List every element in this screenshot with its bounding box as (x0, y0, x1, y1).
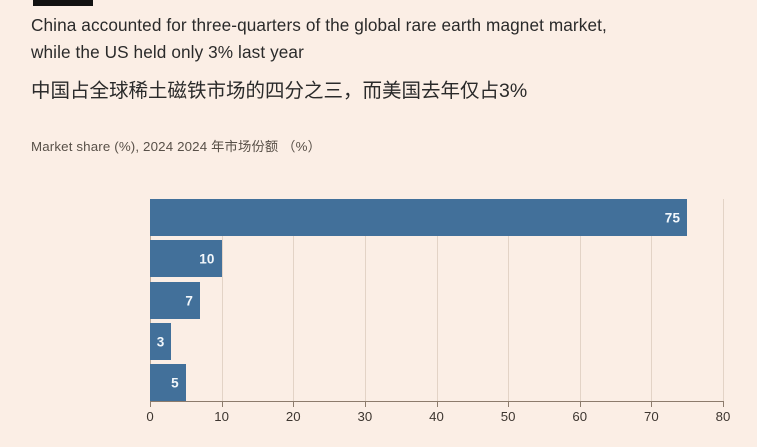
x-tick-10 (222, 402, 223, 407)
bar-japan[interactable]: 10 (150, 240, 222, 277)
x-tick-70 (651, 402, 652, 407)
x-tick-label-10: 10 (214, 409, 229, 424)
x-tick-0 (150, 402, 151, 407)
x-tick-label-80: 80 (716, 409, 731, 424)
gridline-80 (723, 199, 724, 401)
x-tick-label-50: 50 (501, 409, 516, 424)
bar-row: Europe7 (150, 282, 723, 319)
x-axis-ticks: 01020304050607080 (150, 402, 723, 430)
x-tick-label-20: 20 (286, 409, 301, 424)
bar-europe[interactable]: 7 (150, 282, 200, 319)
headline-english-line1: China accounted for three-quarters of th… (31, 12, 731, 39)
x-tick-label-70: 70 (644, 409, 659, 424)
x-tick-80 (723, 402, 724, 407)
bar-row: Japan10 (150, 240, 723, 277)
bar-chart: China75Japan10Europe7US3Rest of the worl… (0, 170, 757, 430)
bar-value-rest-of-the-world: 5 (171, 376, 179, 390)
x-tick-label-30: 30 (358, 409, 373, 424)
x-tick-20 (293, 402, 294, 407)
headline-chinese: 中国占全球稀土磁铁市场的四分之三，而美国去年仅占3% (31, 75, 731, 108)
x-tick-label-40: 40 (429, 409, 444, 424)
bar-value-japan: 10 (199, 252, 214, 266)
plot-area: China75Japan10Europe7US3Rest of the worl… (150, 199, 723, 401)
bar-value-us: 3 (157, 335, 165, 349)
bar-value-europe: 7 (185, 294, 193, 308)
bar-row: Rest of the world5 (150, 364, 723, 401)
x-tick-60 (580, 402, 581, 407)
publication-logo-bar (33, 0, 93, 6)
bar-us[interactable]: 3 (150, 323, 171, 360)
chart-axis-caption: Market share (%), 2024 2024 年市场份额 （%） (31, 136, 321, 155)
headline-block: China accounted for three-quarters of th… (31, 12, 731, 108)
x-tick-40 (437, 402, 438, 407)
x-tick-label-60: 60 (572, 409, 587, 424)
bar-row: US3 (150, 323, 723, 360)
bar-row: China75 (150, 199, 723, 236)
bar-value-china: 75 (665, 211, 680, 225)
x-tick-30 (365, 402, 366, 407)
x-tick-label-0: 0 (146, 409, 153, 424)
headline-english-line2: while the US held only 3% last year (31, 39, 731, 66)
x-tick-50 (508, 402, 509, 407)
bar-series: China75Japan10Europe7US3Rest of the worl… (150, 199, 723, 401)
bar-china[interactable]: 75 (150, 199, 687, 236)
bar-rest-of-the-world[interactable]: 5 (150, 364, 186, 401)
